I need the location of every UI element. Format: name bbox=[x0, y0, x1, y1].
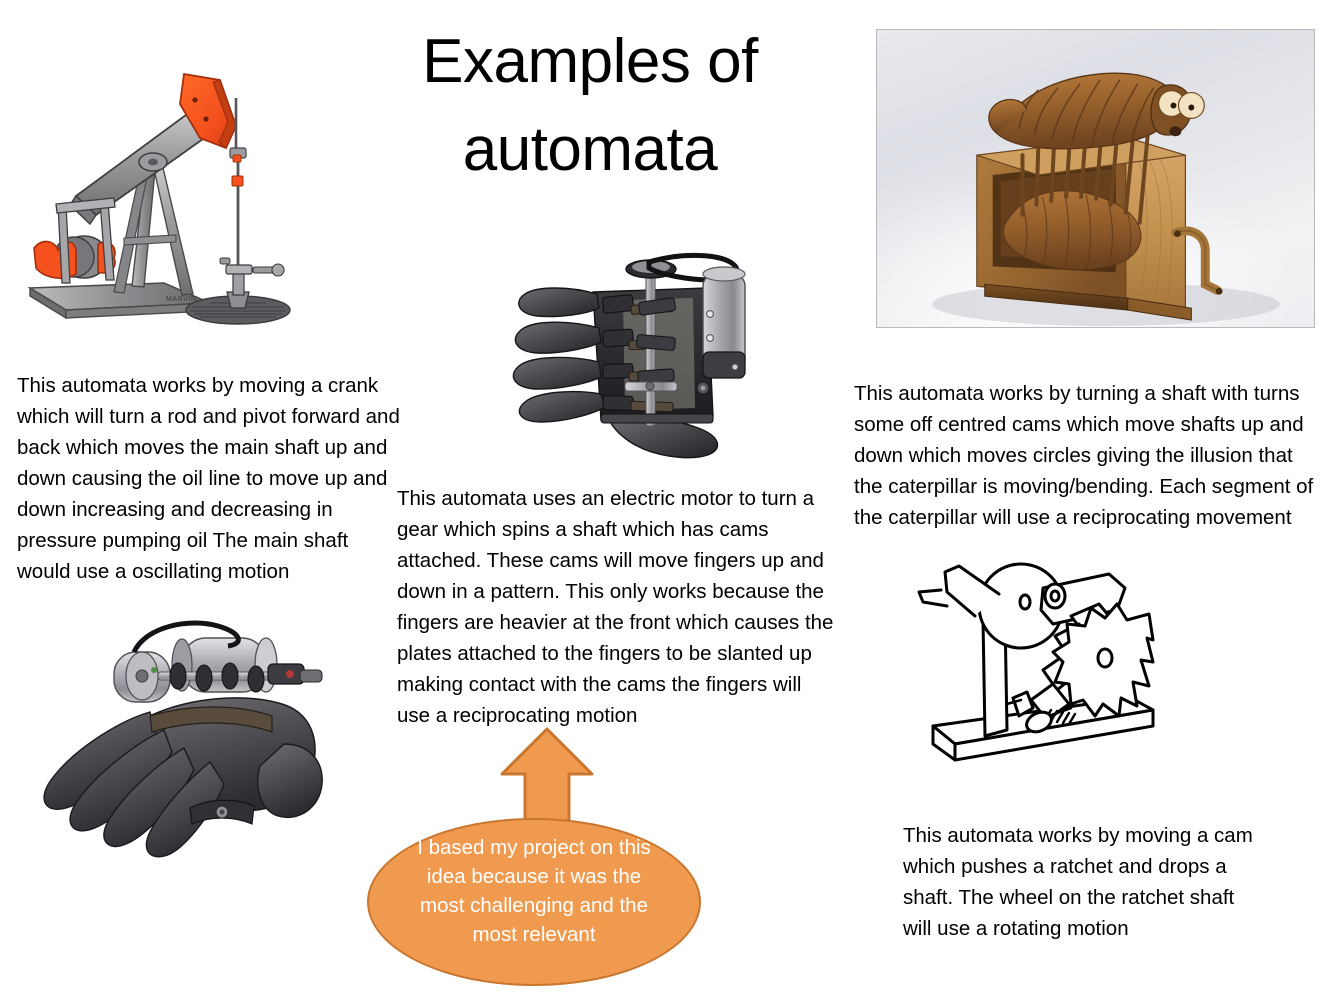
description-caterpillar: This automata works by turning a shaft w… bbox=[854, 378, 1316, 533]
robotic-hand-flat-photo bbox=[22, 612, 337, 870]
page-title: Examples of automata bbox=[330, 18, 850, 194]
callout-ellipse-label: I based my project on this idea because … bbox=[369, 833, 699, 949]
description-ratchet: This automata works by moving a cam whic… bbox=[903, 820, 1253, 944]
slide-canvas: Examples of automata bbox=[0, 0, 1329, 1002]
wooden-caterpillar-automaton-photo bbox=[876, 29, 1315, 328]
oil-pumpjack-illustration: MARVIN bbox=[14, 52, 302, 337]
description-robotic-hand: This automata uses an electric motor to … bbox=[397, 483, 839, 731]
robotic-hand-front-photo bbox=[497, 252, 782, 477]
callout-ellipse: I based my project on this idea because … bbox=[367, 818, 701, 986]
pumpjack-brand-label: MARVIN bbox=[166, 296, 197, 303]
ratchet-mechanism-line-drawing bbox=[903, 558, 1158, 783]
description-pumpjack: This automata works by moving a crank wh… bbox=[17, 370, 407, 587]
